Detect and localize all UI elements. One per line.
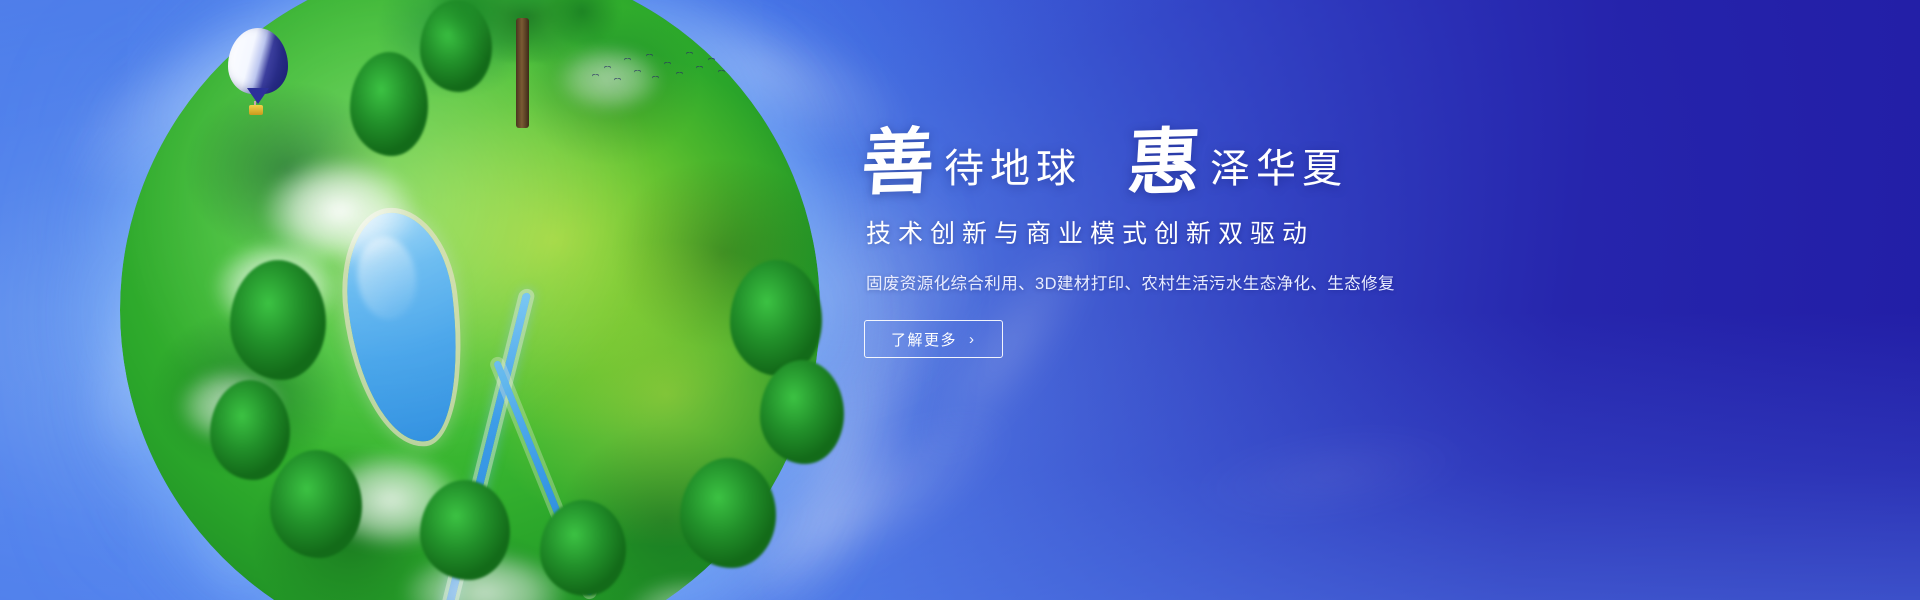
bird-icon [708, 58, 715, 62]
bird-flock-icon [590, 48, 730, 92]
bird-icon [614, 78, 621, 82]
bird-icon [718, 70, 725, 74]
bird-icon [676, 72, 683, 76]
hero-banner: 善 待地球 惠 泽华夏 技术创新与商业模式创新双驱动 固废资源化综合利用、3D建… [0, 0, 1920, 600]
bird-icon [646, 54, 653, 58]
tree-icon [540, 500, 626, 596]
tree-icon [730, 260, 822, 376]
tree-trunk [516, 18, 529, 128]
tree-icon [420, 480, 510, 580]
bird-icon [696, 66, 703, 70]
tree-icon [760, 360, 844, 464]
bird-icon [652, 76, 659, 80]
bird-icon [634, 70, 641, 74]
balloon-neck [247, 88, 269, 104]
hot-air-balloon-icon [228, 28, 288, 120]
bird-icon [664, 62, 671, 66]
headline-text-1: 待地球 [938, 149, 1082, 196]
bird-icon [686, 52, 693, 56]
tree-icon [350, 52, 428, 156]
tree-icon [270, 450, 362, 558]
headline-char-1: 善 [860, 127, 940, 197]
tree-icon [680, 458, 776, 568]
learn-more-label: 了解更多 [891, 329, 957, 350]
chevron-right-icon: › [969, 331, 976, 348]
hero-content: 善 待地球 惠 泽华夏 技术创新与商业模式创新双驱动 固废资源化综合利用、3D建… [862, 128, 1562, 358]
headline-text-2: 泽华夏 [1204, 149, 1348, 196]
headline-char-2: 惠 [1126, 127, 1206, 197]
bird-icon [592, 74, 599, 78]
balloon-envelope [228, 28, 288, 94]
bird-icon [624, 58, 631, 62]
balloon-basket [249, 105, 263, 115]
bird-icon [604, 66, 611, 70]
hero-subtitle: 技术创新与商业模式创新双驱动 [866, 214, 1562, 250]
tree-icon [230, 260, 326, 380]
page-title: 善 待地球 惠 泽华夏 [862, 128, 1562, 196]
hero-description: 固废资源化综合利用、3D建材打印、农村生活污水生态净化、生态修复 [866, 270, 1562, 294]
learn-more-button[interactable]: 了解更多 › [864, 320, 1003, 358]
